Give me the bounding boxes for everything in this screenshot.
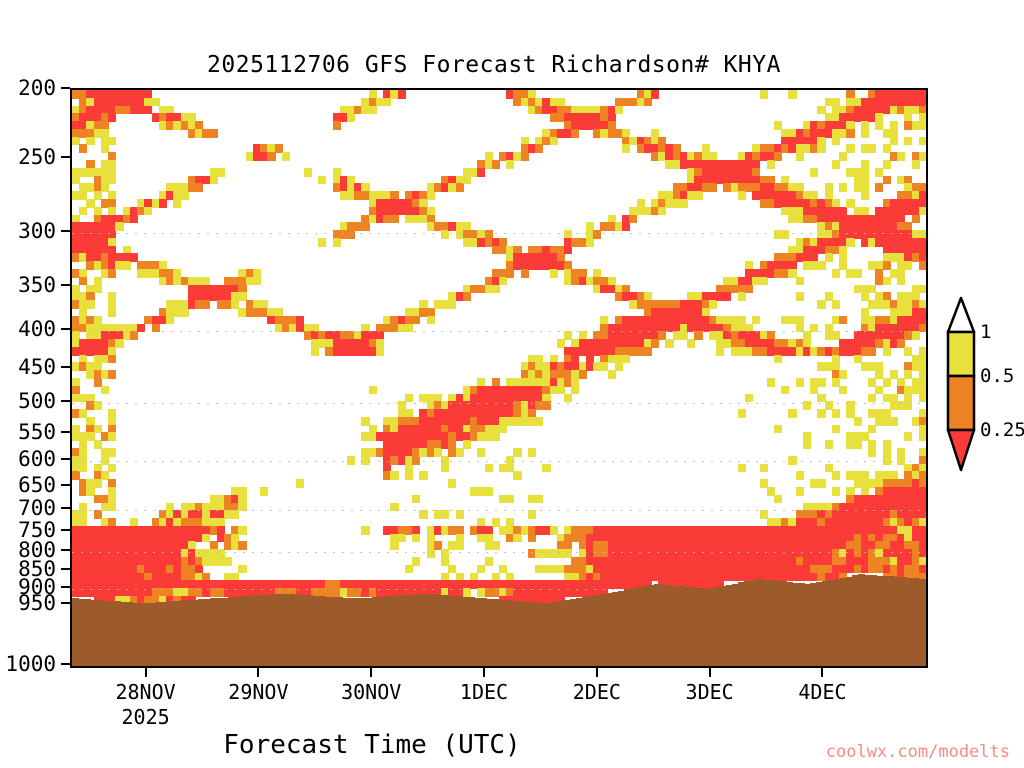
chart-root: 2025112706 GFS Forecast Richardson# KHYA… — [0, 0, 1024, 768]
x-tick-mark-4DEC — [821, 668, 823, 677]
y-tick-mark-750 — [61, 529, 70, 531]
x-axis-title: Forecast Time (UTC) — [0, 730, 884, 760]
y-tick-label-400: 400 — [18, 317, 56, 341]
y-tick-mark-350 — [61, 284, 70, 286]
y-tick-mark-650 — [61, 484, 70, 486]
x-axis: 28NOV202529NOV30NOV1DEC2DEC3DEC4DEC — [70, 668, 928, 728]
colorbar-svg — [946, 296, 976, 472]
heatmap-cells — [72, 90, 926, 666]
x-tick-label-28NOV: 28NOV — [115, 680, 175, 704]
y-tick-label-350: 350 — [18, 273, 56, 297]
x-tick-label-3DEC: 3DEC — [686, 680, 734, 704]
y-tick-label-950: 950 — [18, 591, 56, 615]
y-tick-label-600: 600 — [18, 447, 56, 471]
y-tick-label-250: 250 — [18, 145, 56, 169]
y-tick-label-200: 200 — [18, 76, 56, 100]
y-tick-label-450: 450 — [18, 355, 56, 379]
gridline-1000 — [72, 666, 926, 667]
x-tick-label-29NOV: 29NOV — [228, 680, 288, 704]
y-tick-mark-1000 — [61, 663, 70, 665]
y-tick-label-650: 650 — [18, 473, 56, 497]
y-tick-mark-850 — [61, 568, 70, 570]
x-tick-label-1DEC: 1DEC — [460, 680, 508, 704]
x-axis-year-label: 2025 — [121, 705, 169, 729]
colorbar-legend: 10.50.25 — [938, 296, 1024, 476]
y-tick-mark-800 — [61, 549, 70, 551]
y-tick-label-550: 550 — [18, 420, 56, 444]
colorbar-tick-1: 1 — [980, 321, 991, 343]
y-tick-mark-300 — [61, 230, 70, 232]
y-axis: 2002503003504004505005506006507007508008… — [0, 88, 70, 668]
y-tick-mark-600 — [61, 458, 70, 460]
x-tick-mark-3DEC — [709, 668, 711, 677]
watermark: coolwx.com/modelts — [826, 742, 1010, 762]
x-tick-label-2DEC: 2DEC — [573, 680, 621, 704]
colorbar-tick-0.25: 0.25 — [980, 419, 1024, 441]
x-tick-mark-29NOV — [257, 668, 259, 677]
chart-title: 2025112706 GFS Forecast Richardson# KHYA — [0, 52, 1006, 78]
y-tick-mark-950 — [61, 602, 70, 604]
heatmap-plot-area[interactable] — [70, 88, 928, 668]
y-tick-label-500: 500 — [18, 389, 56, 413]
y-tick-mark-450 — [61, 366, 70, 368]
colorbar-swatches — [946, 296, 976, 472]
x-tick-label-4DEC: 4DEC — [798, 680, 846, 704]
x-tick-mark-28NOV — [145, 668, 147, 677]
y-tick-mark-900 — [61, 586, 70, 588]
y-tick-label-300: 300 — [18, 219, 56, 243]
y-tick-label-1000: 1000 — [5, 652, 56, 676]
y-tick-label-700: 700 — [18, 496, 56, 520]
y-tick-mark-550 — [61, 431, 70, 433]
y-tick-mark-400 — [61, 328, 70, 330]
y-tick-mark-250 — [61, 156, 70, 158]
colorbar-tick-0.5: 0.5 — [980, 365, 1014, 387]
x-tick-mark-1DEC — [483, 668, 485, 677]
y-tick-mark-200 — [61, 87, 70, 89]
x-tick-label-30NOV: 30NOV — [341, 680, 401, 704]
y-tick-mark-700 — [61, 507, 70, 509]
x-tick-mark-30NOV — [370, 668, 372, 677]
x-tick-mark-2DEC — [596, 668, 598, 677]
y-tick-mark-500 — [61, 400, 70, 402]
